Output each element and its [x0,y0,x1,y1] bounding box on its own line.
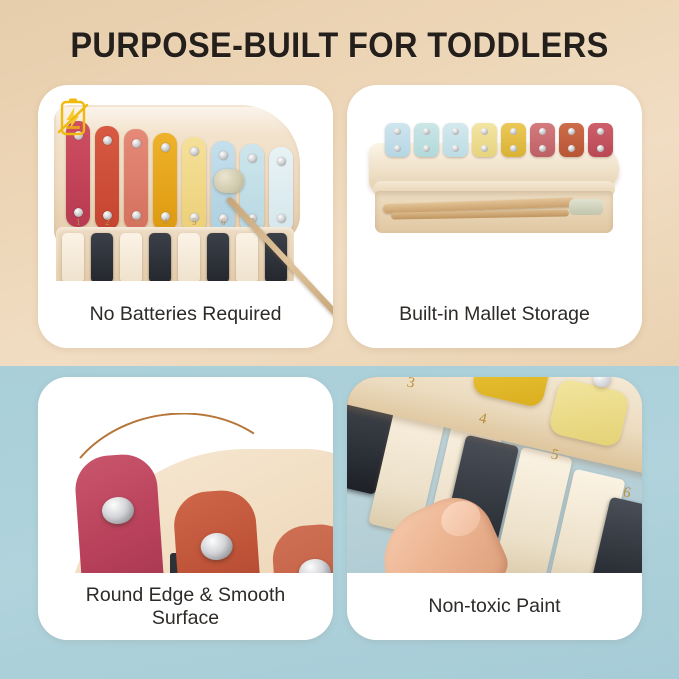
macro-bar-1 [73,452,165,573]
piano-key-white-1 [62,233,84,281]
feature-caption-non-toxic-paint: Non-toxic Paint [347,573,642,640]
feature-card-non-toxic-paint: 3 4 5 6 Non-toxic Paint [347,377,642,640]
bar-number-1: 1 [76,217,81,227]
side-bar-1 [385,123,410,157]
side-bar-4 [472,123,497,157]
side-bar-2 [414,123,439,157]
stored-mallet-head [569,199,603,215]
side-bar-8 [588,123,613,157]
infographic-root: PURPOSE-BUILT FOR TODDLERS [0,0,679,679]
feature-card-round-edge: Round Edge & Smooth Surface [38,377,333,640]
bar-number-4: 4 [163,217,168,227]
mallet-head [214,169,244,193]
bar-number-5: 5 [192,217,197,227]
caption-line-1: Round Edge & Smooth [86,584,285,606]
xylophone-side-view [369,119,623,247]
tone-bar-3 [124,129,148,230]
page-title: PURPOSE-BUILT FOR TODDLERS [24,26,655,66]
side-bar-7 [559,123,584,157]
tone-bar-8 [269,147,293,233]
feature-card-no-batteries: 1 2 3 4 5 6 7 [38,85,333,348]
piano-key-white-4 [236,233,258,281]
feature-card-mallet-storage: Built-in Mallet Storage [347,85,642,348]
side-bar-5 [501,123,526,157]
side-bar-3 [443,123,468,157]
caption-line-2: Surface [152,607,219,629]
piano-key-black-3 [207,233,229,281]
bar-number-3: 3 [134,217,139,227]
tone-bar-2 [95,126,119,230]
bar-number-2: 2 [105,217,110,227]
feature-photo-round-edge [38,377,333,573]
piano-key-black-2 [149,233,171,281]
feature-photo-non-toxic-paint: 3 4 5 6 [347,377,642,573]
feature-caption-mallet-storage: Built-in Mallet Storage [347,281,642,348]
piano-key-white-3 [178,233,200,281]
piano-key-black-1 [91,233,113,281]
macro-screw-1 [101,496,135,525]
feature-caption-no-batteries: No Batteries Required [38,281,333,348]
side-bar-6 [530,123,555,157]
feature-photo-mallet-storage [347,85,642,281]
piano-key-white-2 [120,233,142,281]
feature-photo-no-batteries: 1 2 3 4 5 6 7 [38,85,333,281]
macro-screw-2 [200,532,234,561]
feature-caption-round-edge: Round Edge & Smooth Surface [38,573,333,640]
macro-screw-3 [298,558,332,573]
no-battery-icon [55,96,91,140]
bar-number-6: 6 [221,217,226,227]
